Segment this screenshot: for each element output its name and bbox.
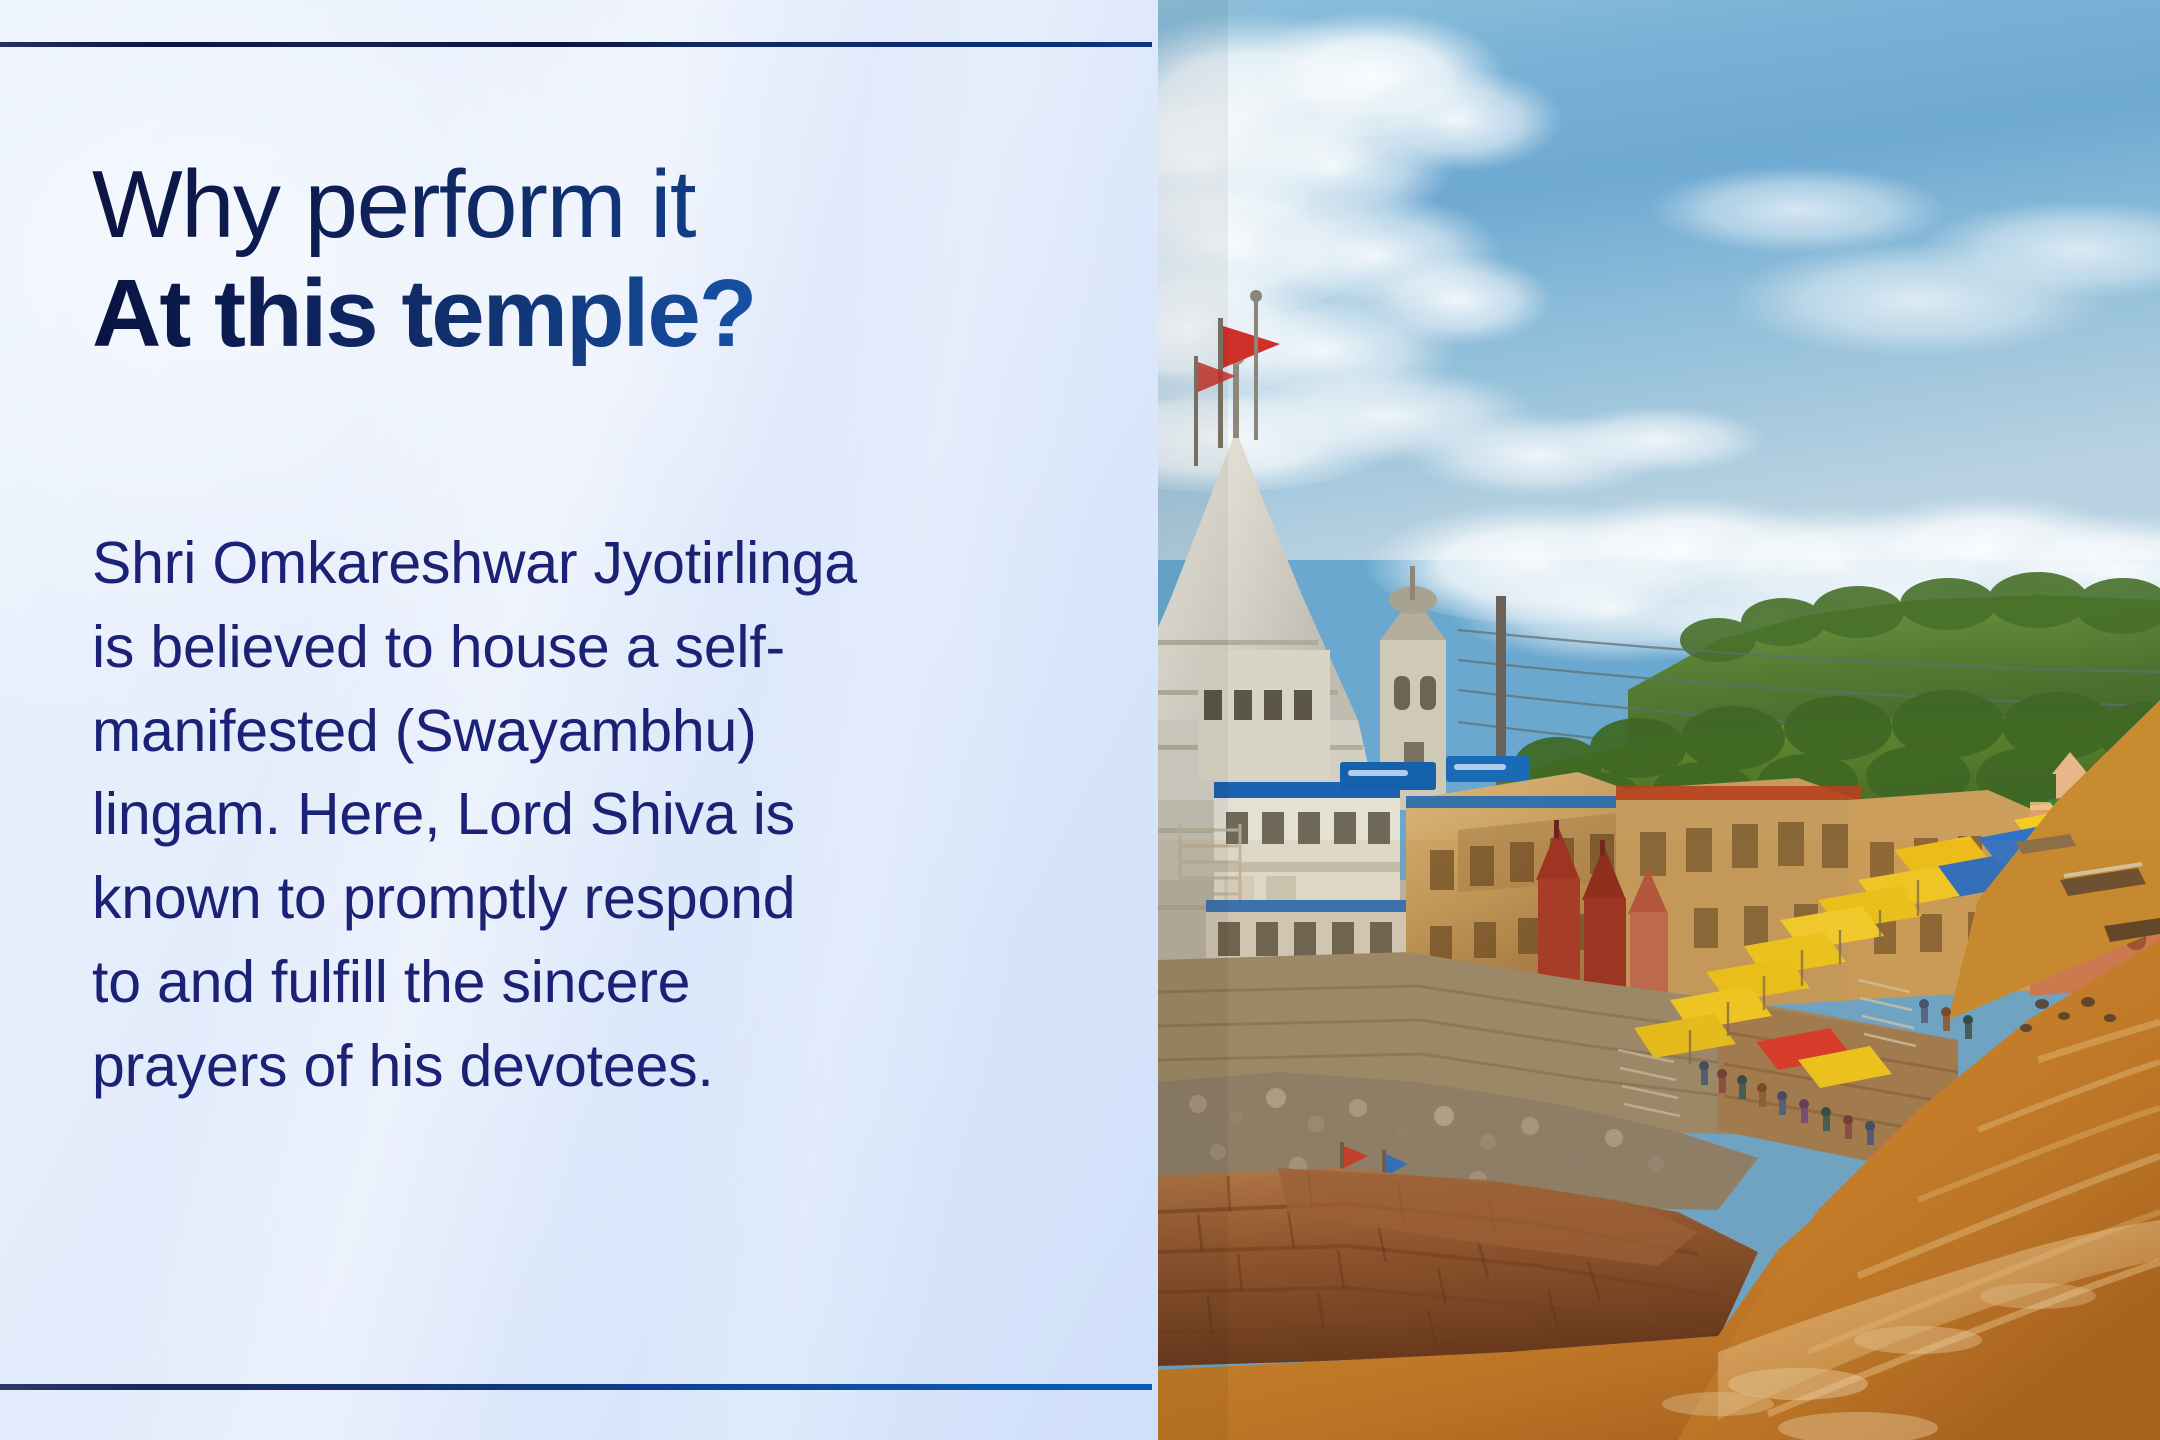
photo-warm-grade (1158, 840, 2160, 1440)
heading-block: Why perform it At this temple? (92, 150, 1112, 369)
photo-vignette-left (1158, 0, 1228, 1440)
body-line: is believed to house a self- (92, 606, 1042, 690)
body-line: to and fulfill the sincere (92, 941, 1042, 1025)
top-divider-rule (0, 42, 1152, 47)
heading-line-2: At this temple? (92, 259, 1112, 368)
body-paragraph: Shri Omkareshwar Jyotirlinga is believed… (92, 522, 1042, 1108)
body-line: known to promptly respond (92, 857, 1042, 941)
red-roof-band (1616, 786, 1862, 800)
body-line: lingam. Here, Lord Shiva is (92, 773, 1042, 857)
omkareshwar-scene (1158, 0, 2160, 1440)
body-line: Shri Omkareshwar Jyotirlinga (92, 522, 1042, 606)
body-line: manifested (Swayambhu) (92, 690, 1042, 774)
temple-finial (1233, 360, 1239, 438)
heading-line-1: Why perform it (92, 150, 1112, 259)
blue-roof-band (1406, 796, 1628, 808)
slide-canvas: Why perform it At this temple? Shri Omka… (0, 0, 2160, 1440)
bottom-divider-rule (0, 1384, 1152, 1390)
temple-photograph (1158, 0, 2160, 1440)
text-panel: Why perform it At this temple? Shri Omka… (0, 0, 1158, 1440)
antenna-mast (1254, 300, 1258, 440)
body-line: prayers of his devotees. (92, 1025, 1042, 1109)
